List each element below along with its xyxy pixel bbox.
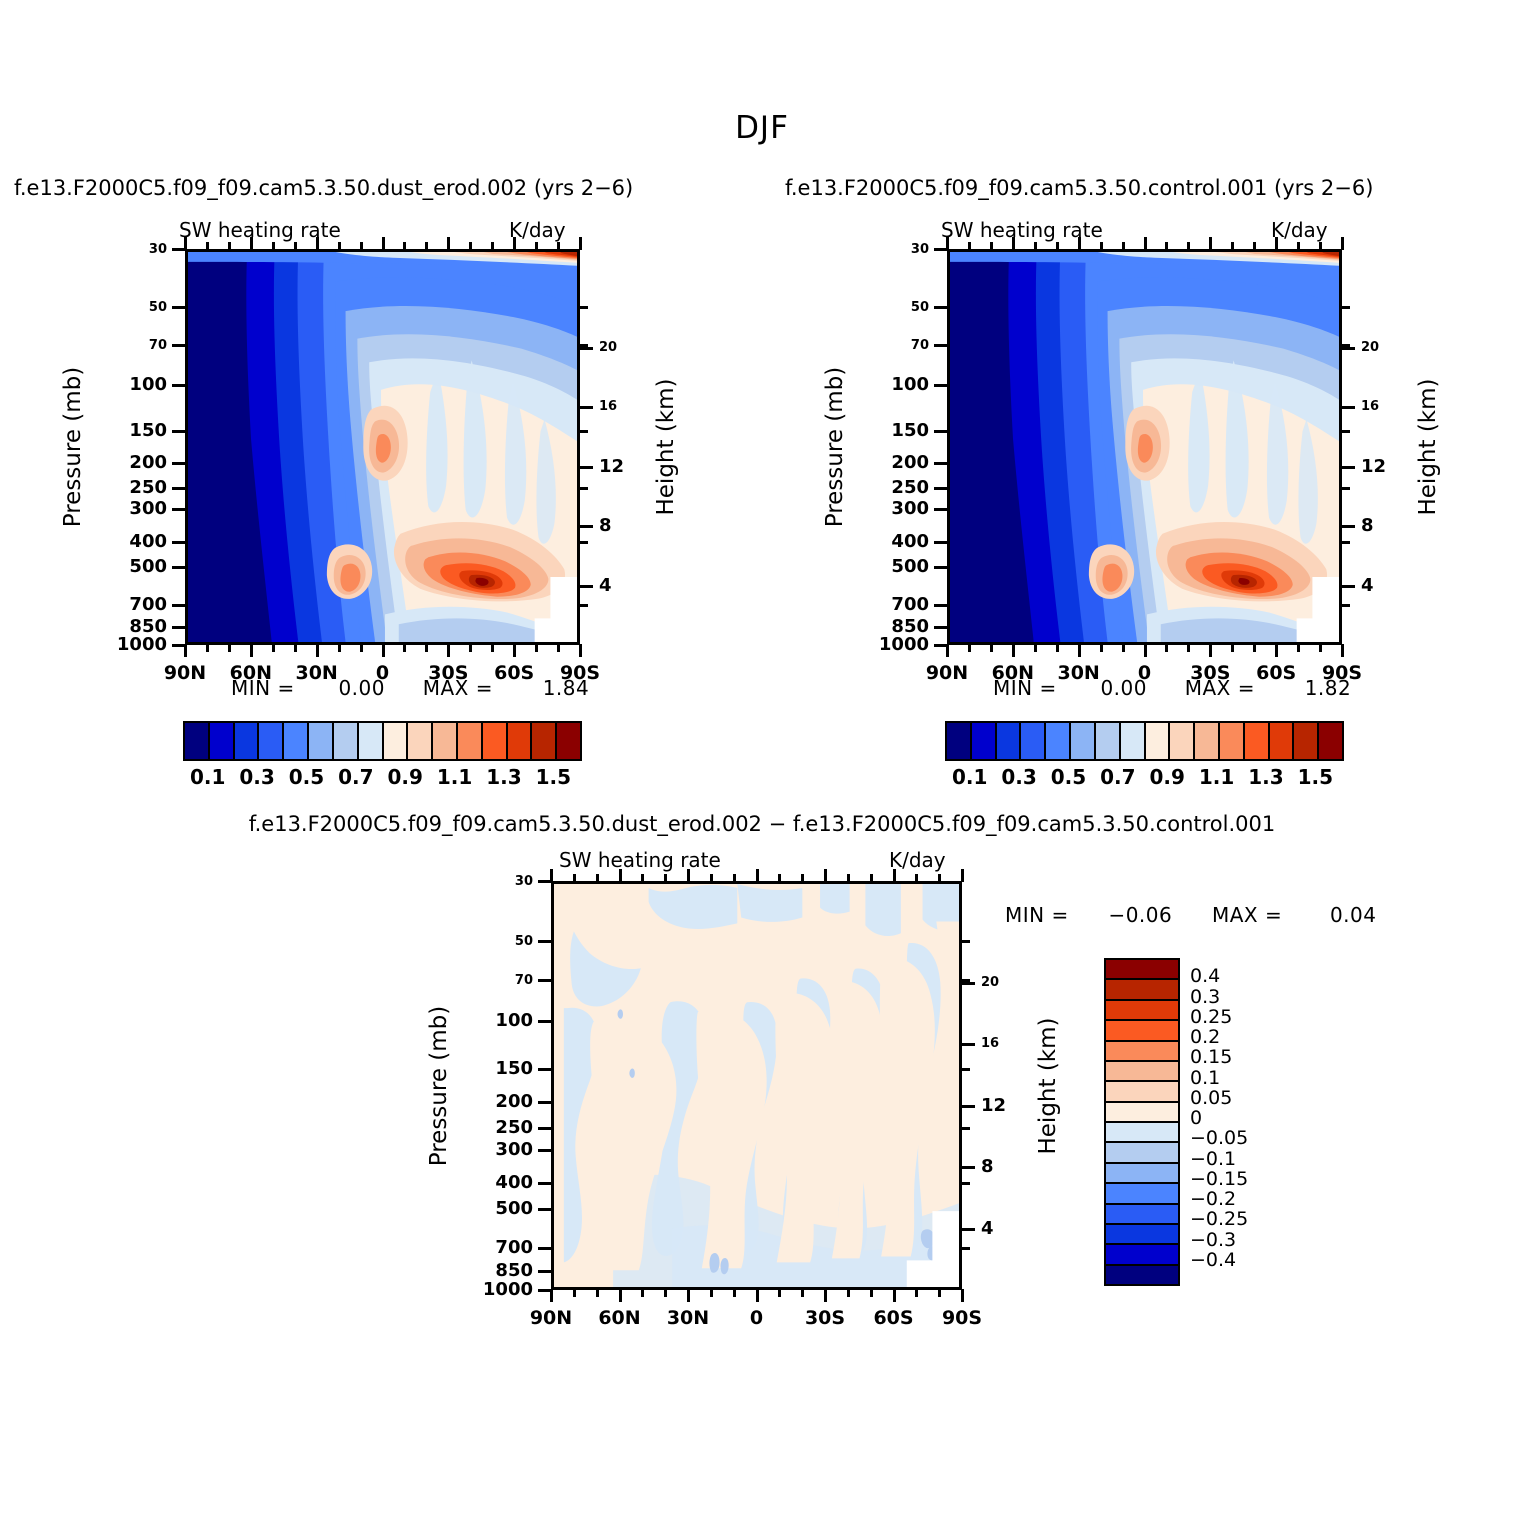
right-lat-minor-tick-top (1297, 242, 1300, 250)
right-colorbar-cell-15 (1319, 723, 1342, 759)
diff-colorbar-cell-14 (1106, 1245, 1178, 1265)
left-colorbar-cell-3 (259, 723, 284, 759)
left-pressure-tick-mark (172, 384, 185, 387)
left-colorbar-cell-14 (532, 723, 557, 759)
right-colorbar-label-1.5: 1.5 (1273, 765, 1357, 789)
diff-colorbar-label-9: −0.1 (1190, 1148, 1236, 1170)
right-plot-area (947, 249, 1342, 645)
right-pressure-tick-mark (934, 462, 947, 465)
left-lat-minor-tick-top (469, 242, 472, 250)
diff-pressure-tick-mark (538, 1182, 551, 1185)
left-colorbar-cell-9 (408, 723, 433, 759)
diff-pressure-tick-mark (538, 1101, 551, 1104)
diff-pressure-tick-200: 200 (429, 1091, 533, 1112)
right-height-tick-16: 16 (1361, 399, 1379, 414)
right-pressure-minor-tick (1342, 344, 1350, 347)
right-panel-title: f.e13.F2000C5.f09_f09.cam5.3.50.control.… (785, 176, 1373, 200)
left-lat-minor-tick-top (206, 242, 209, 250)
diff-lat-minor-tick (801, 1289, 804, 1297)
left-colorbar-cell-15 (557, 723, 580, 759)
diff-lat-tick-mark (550, 1289, 553, 1302)
right-pressure-tick-mark (934, 384, 947, 387)
diff-panel-title: f.e13.F2000C5.f09_f09.cam5.3.50.dust_ero… (0, 812, 1524, 836)
left-minmax: MIN = 0.00 MAX = 1.84 (231, 676, 589, 700)
right-lat-tick-mark-top (1144, 237, 1147, 250)
left-y-right-axis-label: Height (km) (653, 378, 679, 515)
diff-pressure-tick-300: 300 (429, 1139, 533, 1160)
diff-lat-tick-mark (687, 1289, 690, 1302)
left-min-label: MIN = (231, 676, 295, 700)
diff-pressure-tick-30: 30 (429, 874, 533, 889)
diff-lat-minor-tick (915, 1289, 918, 1297)
diff-lat-tick-mark-top (824, 869, 827, 882)
diff-height-tick-mark (962, 1166, 975, 1169)
left-colorbar-cell-5 (309, 723, 334, 759)
left-pressure-minor-tick (580, 306, 588, 309)
right-lat-tick-mark (1012, 644, 1015, 657)
left-units-label: K/day (509, 218, 566, 242)
left-pressure-minor-tick (580, 604, 588, 607)
right-height-tick-mark (1342, 347, 1355, 350)
diff-lat-tick-mark-top (687, 869, 690, 882)
left-contour-field (188, 252, 577, 642)
right-lat-minor-tick-top (1056, 242, 1059, 250)
diff-lat-tick-mark-top (893, 869, 896, 882)
left-height-tick-4: 4 (599, 575, 612, 596)
right-min-label: MIN = (993, 676, 1057, 700)
diff-pressure-tick-mark (538, 1149, 551, 1152)
diff-height-tick-20: 20 (981, 975, 999, 990)
right-lat-minor-tick (1165, 644, 1168, 652)
left-colorbar[interactable] (183, 721, 582, 761)
right-pressure-tick-30: 30 (825, 242, 929, 257)
right-lat-minor-tick-top (1122, 242, 1125, 250)
diff-max-label: MAX = (1212, 903, 1282, 927)
diff-colorbar-label-8: −0.05 (1190, 1127, 1248, 1149)
left-colorbar-cell-12 (483, 723, 508, 759)
left-pressure-tick-30: 30 (63, 242, 167, 257)
diff-pressure-minor-tick (962, 1068, 970, 1071)
right-pressure-tick-mark (934, 566, 947, 569)
diff-colorbar-label-5: 0.1 (1190, 1067, 1220, 1089)
right-pressure-tick-mark (934, 430, 947, 433)
right-lat-tick-mark-top (1012, 237, 1015, 250)
right-colorbar-cell-3 (1021, 723, 1046, 759)
diff-pressure-tick-mark (538, 1068, 551, 1071)
left-max-label: MAX = (423, 676, 493, 700)
diff-lat-minor-tick (778, 1289, 781, 1297)
right-lat-tick-mark (1275, 644, 1278, 657)
diff-lat-tick-mark-top (619, 869, 622, 882)
right-pressure-tick-1000: 1000 (825, 634, 929, 655)
left-colorbar-cell-7 (359, 723, 384, 759)
left-pressure-tick-mark (172, 462, 185, 465)
diff-colorbar-label-14: −0.4 (1190, 1249, 1236, 1271)
right-lat-minor-tick (1231, 644, 1234, 652)
diff-pressure-minor-tick (962, 1127, 970, 1130)
left-lat-tick-mark (184, 644, 187, 657)
diff-colorbar-cell-13 (1106, 1225, 1178, 1245)
right-lat-minor-tick-top (1253, 242, 1256, 250)
left-lat-minor-tick-top (425, 242, 428, 250)
left-lat-minor-tick (272, 644, 275, 652)
right-pressure-tick-mark (934, 344, 947, 347)
left-pressure-tick-mark (172, 508, 185, 511)
left-pressure-tick-100: 100 (63, 374, 167, 395)
left-pressure-tick-500: 500 (63, 556, 167, 577)
right-pressure-tick-700: 700 (825, 594, 929, 615)
right-lat-minor-tick (1100, 644, 1103, 652)
left-pressure-tick-mark (172, 566, 185, 569)
left-pressure-tick-mark (172, 626, 185, 629)
diff-pressure-tick-250: 250 (429, 1117, 533, 1138)
diff-colorbar-cell-2 (1106, 1001, 1178, 1021)
right-colorbar-cell-7 (1121, 723, 1146, 759)
diff-lat-minor-tick-top (573, 874, 576, 882)
right-lat-minor-tick-top (990, 242, 993, 250)
right-lat-minor-tick (1122, 644, 1125, 652)
diff-lat-tick-mark-top (550, 869, 553, 882)
left-lat-minor-tick (360, 644, 363, 652)
left-pressure-tick-700: 700 (63, 594, 167, 615)
diff-colorbar-label-1: 0.3 (1190, 986, 1220, 1008)
left-lat-tick-mark-top (382, 237, 385, 250)
diff-pressure-tick-mark (538, 1247, 551, 1250)
diff-lat-minor-tick (733, 1289, 736, 1297)
diff-pressure-tick-400: 400 (429, 1172, 533, 1193)
diff-height-tick-mark (962, 982, 975, 985)
left-height-tick-mark (580, 525, 593, 528)
right-pressure-tick-200: 200 (825, 452, 929, 473)
diff-lat-tick-mark (824, 1289, 827, 1302)
diff-colorbar-cell-12 (1106, 1205, 1178, 1225)
right-lat-tick-mark-top (1275, 237, 1278, 250)
diff-contour-field (554, 884, 959, 1287)
left-lat-tick-mark (579, 644, 582, 657)
left-panel-title: f.e13.F2000C5.f09_f09.cam5.3.50.dust_ero… (14, 176, 633, 200)
diff-y-right-axis-label: Height (km) (1035, 1017, 1061, 1154)
diff-max-value: 0.04 (1330, 903, 1377, 927)
diff-colorbar-label-12: −0.25 (1190, 1208, 1248, 1230)
diff-colorbar-cell-8 (1106, 1123, 1178, 1143)
diff-plot-area (551, 881, 962, 1290)
diff-pressure-tick-mark (538, 1270, 551, 1273)
right-pressure-tick-100: 100 (825, 374, 929, 395)
right-lat-minor-tick-top (1165, 242, 1168, 250)
diff-units-label: K/day (889, 848, 946, 872)
right-pressure-minor-tick (1342, 430, 1350, 433)
right-pressure-tick-500: 500 (825, 556, 929, 577)
right-pressure-tick-mark (934, 306, 947, 309)
left-lat-minor-tick (469, 644, 472, 652)
left-lat-tick-mark (382, 644, 385, 657)
right-lat-minor-tick (990, 644, 993, 652)
diff-colorbar-label-6: 0.05 (1190, 1087, 1232, 1109)
left-lat-minor-tick (425, 644, 428, 652)
diff-colorbar-cell-9 (1106, 1143, 1178, 1163)
diff-colorbar-cell-15 (1106, 1266, 1178, 1284)
right-colorbar[interactable] (945, 721, 1344, 761)
left-pressure-tick-mark (172, 306, 185, 309)
right-height-tick-mark (1342, 466, 1355, 469)
left-pressure-tick-150: 150 (63, 420, 167, 441)
diff-colorbar-label-2: 0.25 (1190, 1006, 1232, 1028)
diff-lat-minor-tick (596, 1289, 599, 1297)
diff-pressure-tick-700: 700 (429, 1237, 533, 1258)
left-pressure-minor-tick (580, 541, 588, 544)
diff-colorbar-cell-10 (1106, 1164, 1178, 1184)
left-lat-minor-tick-top (403, 242, 406, 250)
left-colorbar-cell-11 (458, 723, 483, 759)
left-pressure-tick-50: 50 (63, 300, 167, 315)
diff-lat-tick-90S: 90S (917, 1307, 1007, 1329)
right-pressure-minor-tick (1342, 487, 1350, 490)
left-lat-tick-mark-top (513, 237, 516, 250)
diff-colorbar-cell-4 (1106, 1042, 1178, 1062)
right-lat-minor-tick-top (1187, 242, 1190, 250)
right-height-tick-20: 20 (1361, 340, 1379, 355)
left-lat-minor-tick (338, 644, 341, 652)
right-max-label: MAX = (1185, 676, 1255, 700)
left-pressure-tick-mark (172, 541, 185, 544)
left-lat-minor-tick-top (228, 242, 231, 250)
right-lat-minor-tick-top (968, 242, 971, 250)
left-height-tick-mark (580, 466, 593, 469)
right-pressure-tick-70: 70 (825, 338, 929, 353)
diff-variable-label: SW heating rate (559, 848, 721, 872)
diff-pressure-tick-1000: 1000 (429, 1279, 533, 1300)
diff-lat-minor-tick-top (710, 874, 713, 882)
diff-colorbar-cell-7 (1106, 1103, 1178, 1123)
diff-height-tick-12: 12 (981, 1095, 1006, 1116)
right-lat-minor-tick (1187, 644, 1190, 652)
diff-lat-minor-tick-top (801, 874, 804, 882)
right-lat-minor-tick (1319, 644, 1322, 652)
right-pressure-tick-250: 250 (825, 477, 929, 498)
diff-lat-tick-mark (961, 1289, 964, 1302)
left-height-tick-mark (580, 347, 593, 350)
left-lat-minor-tick (491, 644, 494, 652)
left-pressure-minor-tick (580, 344, 588, 347)
left-plot-area (185, 249, 580, 645)
right-pressure-minor-tick (1342, 541, 1350, 544)
left-colorbar-cell-6 (334, 723, 359, 759)
diff-lat-minor-tick (641, 1289, 644, 1297)
left-lat-tick-mark-top (184, 237, 187, 250)
left-min-value: 0.00 (338, 676, 385, 700)
diff-colorbar-cell-5 (1106, 1062, 1178, 1082)
right-lat-tick-mark (1144, 644, 1147, 657)
right-colorbar-cell-4 (1046, 723, 1071, 759)
right-pressure-tick-mark (934, 487, 947, 490)
right-colorbar-cell-5 (1071, 723, 1096, 759)
left-colorbar-label-1.5: 1.5 (511, 765, 595, 789)
left-lat-minor-tick-top (272, 242, 275, 250)
diff-colorbar-label-3: 0.2 (1190, 1026, 1220, 1048)
diff-lat-minor-tick (573, 1289, 576, 1297)
right-lat-tick-mark (946, 644, 949, 657)
left-colorbar-cell-4 (284, 723, 309, 759)
diff-lat-minor-tick-top (641, 874, 644, 882)
diff-colorbar-label-0: 0.4 (1190, 965, 1220, 987)
right-height-tick-8: 8 (1361, 515, 1374, 536)
left-pressure-tick-250: 250 (63, 477, 167, 498)
left-lat-minor-tick (557, 644, 560, 652)
left-lat-tick-mark-top (250, 237, 253, 250)
left-height-tick-mark (580, 406, 593, 409)
left-lat-tick-mark (447, 644, 450, 657)
right-colorbar-cell-12 (1245, 723, 1270, 759)
left-height-tick-8: 8 (599, 515, 612, 536)
diff-height-tick-4: 4 (981, 1218, 994, 1239)
diff-colorbar-cell-1 (1106, 980, 1178, 1000)
right-pressure-tick-150: 150 (825, 420, 929, 441)
right-lat-tick-mark-top (1209, 237, 1212, 250)
right-pressure-tick-mark (934, 626, 947, 629)
diff-colorbar-label-11: −0.2 (1190, 1188, 1236, 1210)
left-pressure-tick-1000: 1000 (63, 634, 167, 655)
right-lat-minor-tick (968, 644, 971, 652)
left-pressure-tick-mark (172, 430, 185, 433)
left-colorbar-cell-1 (210, 723, 235, 759)
right-lat-minor-tick-top (1231, 242, 1234, 250)
left-colorbar-cell-0 (185, 723, 210, 759)
left-lat-minor-tick-top (338, 242, 341, 250)
right-pressure-tick-400: 400 (825, 531, 929, 552)
right-lat-minor-tick (1034, 644, 1037, 652)
left-lat-minor-tick-top (535, 242, 538, 250)
left-lat-minor-tick-top (557, 242, 560, 250)
left-pressure-tick-70: 70 (63, 338, 167, 353)
right-contour-field (950, 252, 1339, 642)
right-pressure-minor-tick (1342, 604, 1350, 607)
left-lat-minor-tick-top (491, 242, 494, 250)
diff-pressure-tick-mark (538, 1208, 551, 1211)
left-pressure-tick-mark (172, 344, 185, 347)
left-lat-minor-tick (228, 644, 231, 652)
right-lat-tick-mark (1209, 644, 1212, 657)
figure-title: DJF (0, 110, 1524, 146)
left-pressure-minor-tick (580, 487, 588, 490)
right-y-right-axis-label: Height (km) (1415, 378, 1441, 515)
right-height-tick-12: 12 (1361, 456, 1386, 477)
left-pressure-tick-mark (172, 604, 185, 607)
diff-pressure-tick-mark (538, 979, 551, 982)
left-lat-tick-mark-top (579, 237, 582, 250)
left-pressure-tick-200: 200 (63, 452, 167, 473)
right-colorbar-cell-8 (1146, 723, 1171, 759)
diff-lat-tick-mark-top (961, 869, 964, 882)
right-pressure-tick-300: 300 (825, 498, 929, 519)
diff-colorbar-cell-11 (1106, 1184, 1178, 1204)
diff-pressure-tick-mark (538, 1127, 551, 1130)
diff-lat-tick-mark (756, 1289, 759, 1302)
diff-pressure-minor-tick (962, 940, 970, 943)
diff-colorbar-label-10: −0.15 (1190, 1168, 1248, 1190)
right-pressure-tick-mark (934, 508, 947, 511)
diff-colorbar-cell-3 (1106, 1021, 1178, 1041)
left-lat-minor-tick (294, 644, 297, 652)
diff-colorbar-cell-0 (1106, 960, 1178, 980)
diff-pressure-tick-mark (538, 940, 551, 943)
right-min-value: 0.00 (1100, 676, 1147, 700)
left-lat-tick-mark-top (316, 237, 319, 250)
diff-colorbar[interactable] (1104, 958, 1180, 1286)
left-colorbar-cell-8 (384, 723, 409, 759)
diff-pressure-tick-150: 150 (429, 1058, 533, 1079)
right-lat-minor-tick-top (1319, 242, 1322, 250)
right-colorbar-cell-9 (1170, 723, 1195, 759)
diff-lat-tick-mark-top (756, 869, 759, 882)
diff-colorbar-label-7: 0 (1190, 1107, 1202, 1129)
diff-lat-minor-tick (710, 1289, 713, 1297)
right-lat-minor-tick (1056, 644, 1059, 652)
diff-height-tick-mark (962, 1228, 975, 1231)
diff-colorbar-cell-6 (1106, 1082, 1178, 1102)
left-height-tick-20: 20 (599, 340, 617, 355)
diff-lat-minor-tick (847, 1289, 850, 1297)
left-lat-tick-mark-top (447, 237, 450, 250)
right-lat-tick-mark-top (946, 237, 949, 250)
diff-minmax: MIN = −0.06 MAX = 0.04 (1005, 903, 1376, 927)
right-units-label: K/day (1271, 218, 1328, 242)
right-lat-minor-tick-top (1034, 242, 1037, 250)
left-max-value: 1.84 (543, 676, 590, 700)
left-height-tick-16: 16 (599, 399, 617, 414)
diff-height-tick-8: 8 (981, 1156, 994, 1177)
right-lat-minor-tick-top (1100, 242, 1103, 250)
diff-lat-minor-tick-top (847, 874, 850, 882)
diff-min-value: −0.06 (1108, 903, 1172, 927)
left-pressure-tick-300: 300 (63, 498, 167, 519)
right-height-tick-4: 4 (1361, 575, 1374, 596)
diff-pressure-minor-tick (962, 1247, 970, 1250)
diff-lat-tick-mark (893, 1289, 896, 1302)
right-pressure-minor-tick (1342, 306, 1350, 309)
right-height-tick-mark (1342, 525, 1355, 528)
right-lat-minor-tick (1253, 644, 1256, 652)
left-lat-tick-mark (250, 644, 253, 657)
diff-lat-minor-tick-top (664, 874, 667, 882)
left-pressure-minor-tick (580, 430, 588, 433)
right-pressure-tick-mark (934, 541, 947, 544)
left-pressure-tick-400: 400 (63, 531, 167, 552)
right-lat-tick-mark-top (1341, 237, 1344, 250)
diff-lat-minor-tick-top (733, 874, 736, 882)
left-lat-minor-tick-top (360, 242, 363, 250)
diff-lat-minor-tick-top (938, 874, 941, 882)
left-lat-tick-mark (513, 644, 516, 657)
right-pressure-tick-50: 50 (825, 300, 929, 315)
right-colorbar-cell-1 (972, 723, 997, 759)
left-lat-minor-tick (206, 644, 209, 652)
diff-pressure-tick-500: 500 (429, 1198, 533, 1219)
left-colorbar-cell-13 (508, 723, 533, 759)
right-colorbar-cell-11 (1220, 723, 1245, 759)
left-colorbar-cell-2 (235, 723, 260, 759)
left-lat-tick-mark (316, 644, 319, 657)
right-colorbar-cell-6 (1096, 723, 1121, 759)
diff-pressure-tick-70: 70 (429, 973, 533, 988)
diff-min-label: MIN = (1005, 903, 1069, 927)
right-height-tick-mark (1342, 585, 1355, 588)
diff-lat-minor-tick-top (596, 874, 599, 882)
diff-height-tick-16: 16 (981, 1036, 999, 1051)
diff-pressure-minor-tick (962, 979, 970, 982)
diff-pressure-minor-tick (962, 1182, 970, 1185)
right-pressure-tick-mark (934, 604, 947, 607)
diff-pressure-tick-100: 100 (429, 1010, 533, 1031)
